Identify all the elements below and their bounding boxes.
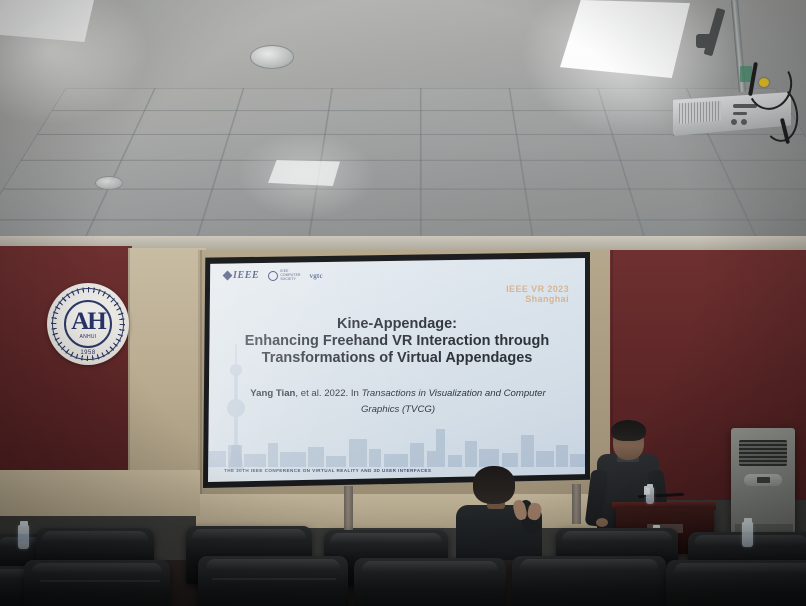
ceiling-tile <box>512 110 613 135</box>
wall-seam <box>128 248 130 498</box>
projector-port <box>731 119 737 125</box>
ceiling-tile <box>509 88 606 111</box>
ceiling-tile <box>0 188 109 220</box>
ceiling-tile <box>328 88 422 111</box>
water-bottle[interactable] <box>742 522 753 547</box>
ceiling-tile <box>51 88 155 111</box>
ceiling-tile <box>320 134 422 161</box>
slide-title-line2: Enhancing Freehand VR Interaction throug… <box>230 333 564 350</box>
slide-title-line1: Kine-Appendage: <box>230 316 564 333</box>
computer-society-text: IEEE COMPUTER SOCIETY <box>280 270 300 282</box>
wall-lower-band <box>0 470 200 516</box>
presenter-hair <box>611 420 646 441</box>
projector-port <box>741 119 747 125</box>
wall-panel-beige-left <box>128 248 206 498</box>
auditorium-seat[interactable] <box>24 560 170 606</box>
author-name: Yang Tian <box>250 388 295 399</box>
ceiling-tile <box>524 188 640 220</box>
emblem-year: 1958 <box>80 350 95 356</box>
ceiling-tile <box>107 160 222 189</box>
ac-display[interactable] <box>757 477 770 483</box>
ac-grille <box>739 440 787 466</box>
ceiling-tile <box>719 160 806 189</box>
slide-authors-line1: Yang Tian, et al. 2022. In Transactions … <box>236 386 560 402</box>
vr-logo-line1: IEEE VR 2023 <box>506 284 569 294</box>
university-emblem: AH ANHUI 1958 <box>47 283 129 365</box>
ceiling-tile <box>236 88 333 111</box>
projector-port <box>733 104 757 108</box>
water-bottle-cap <box>20 521 28 526</box>
venue-line2: Graphics (TVCG) <box>361 404 435 415</box>
water-bottle-label <box>18 534 29 542</box>
ieee-computer-society-logo-icon: IEEE COMPUTER SOCIETY <box>268 270 300 282</box>
wall-seam <box>200 250 202 498</box>
shanghai-skyline-silhouette <box>208 421 585 467</box>
auditorium-seat[interactable] <box>512 556 666 606</box>
screen-support-post <box>572 484 581 524</box>
ceiling-tile <box>311 188 422 220</box>
ceiling-tile <box>707 134 806 161</box>
projector-vent <box>679 100 721 124</box>
water-bottle[interactable] <box>646 487 654 504</box>
ceiling-light-panel-3 <box>268 160 340 186</box>
ceiling-tile <box>620 160 735 189</box>
water-bottle-cap <box>744 518 752 523</box>
ceiling-tile <box>420 110 517 135</box>
projection-screen[interactable]: IEEE IEEE COMPUTER SOCIETY vgtc IEEE VR … <box>208 258 585 482</box>
ceiling-tile <box>611 134 721 161</box>
ceiling-tile <box>420 188 531 220</box>
screen-support-post <box>344 486 353 530</box>
ceiling-tile <box>420 134 522 161</box>
ceiling-tile <box>144 88 245 111</box>
wall-lower-band <box>196 494 616 528</box>
venue-line1: Transactions in Visualization and Comput… <box>362 388 546 399</box>
emblem-subtext: ANHUI <box>79 334 96 340</box>
ceiling-speaker-icon <box>95 176 123 190</box>
slide-footer-banner: THE 30TH IEEE CONFERENCE ON VIRTUAL REAL… <box>224 468 431 473</box>
ceiling-tile <box>93 188 214 220</box>
ceiling-tile <box>420 160 526 189</box>
ceiling-tile <box>516 134 622 161</box>
auditorium-seat[interactable] <box>666 560 806 606</box>
ceiling-tile <box>132 110 237 135</box>
slide-logo-row: IEEE IEEE COMPUTER SOCIETY vgtc <box>224 270 323 282</box>
ceiling-tile <box>202 188 318 220</box>
slide-authors: Yang Tian, et al. 2022. In Transactions … <box>236 386 560 418</box>
ceiling-tile <box>36 110 145 135</box>
ceiling-tile <box>520 160 631 189</box>
projection-screen-frame: IEEE IEEE COMPUTER SOCIETY vgtc IEEE VR … <box>203 252 590 488</box>
ceiling-tile <box>324 110 421 135</box>
seat-seam <box>40 580 160 582</box>
ceiling-tile <box>420 88 514 111</box>
projector-cable-tie <box>759 78 769 87</box>
emblem-monogram: AH <box>71 309 105 334</box>
auditorium-seat[interactable] <box>198 556 348 606</box>
projector-port <box>733 112 747 115</box>
conference-room-photo: AH ANHUI 1958 <box>0 0 806 606</box>
ceiling-light-panel-1 <box>560 0 690 78</box>
audience-head <box>473 466 515 504</box>
ceiling-tile <box>220 134 326 161</box>
ceiling-tile <box>228 110 329 135</box>
projector-mount-bracket <box>696 34 712 48</box>
vgtc-logo-text: vgtc <box>310 272 323 280</box>
emblem-inner-disc: AH ANHUI <box>64 300 112 348</box>
ieee-vr-2023-logo: IEEE VR 2023 Shanghai <box>506 284 569 304</box>
ceiling-light-panel-2 <box>0 0 94 42</box>
ieee-logo-icon: IEEE <box>224 270 259 281</box>
wall-panel-red-left <box>0 246 132 496</box>
ieee-diamond-icon <box>223 271 233 281</box>
vr-logo-line2: Shanghai <box>506 294 569 304</box>
computer-society-ring-icon <box>268 271 278 281</box>
ceiling-tile <box>120 134 230 161</box>
author-rest: , et al. 2022. In <box>295 388 361 399</box>
slide-title: Kine-Appendage: Enhancing Freehand VR In… <box>230 316 564 367</box>
ceiling-tile <box>628 188 749 220</box>
water-bottle-cap <box>647 484 653 488</box>
seat-seam <box>212 578 336 580</box>
ceiling-speaker-icon <box>250 45 294 69</box>
slide-authors-line2: Graphics (TVCG) <box>236 402 560 418</box>
ceiling-tile <box>20 134 134 161</box>
auditorium-seat[interactable] <box>354 558 506 606</box>
ieee-logo-text: IEEE <box>233 270 259 281</box>
slide-title-line3: Transformations of Virtual Appendages <box>230 350 564 367</box>
presenter-hand <box>596 518 608 527</box>
